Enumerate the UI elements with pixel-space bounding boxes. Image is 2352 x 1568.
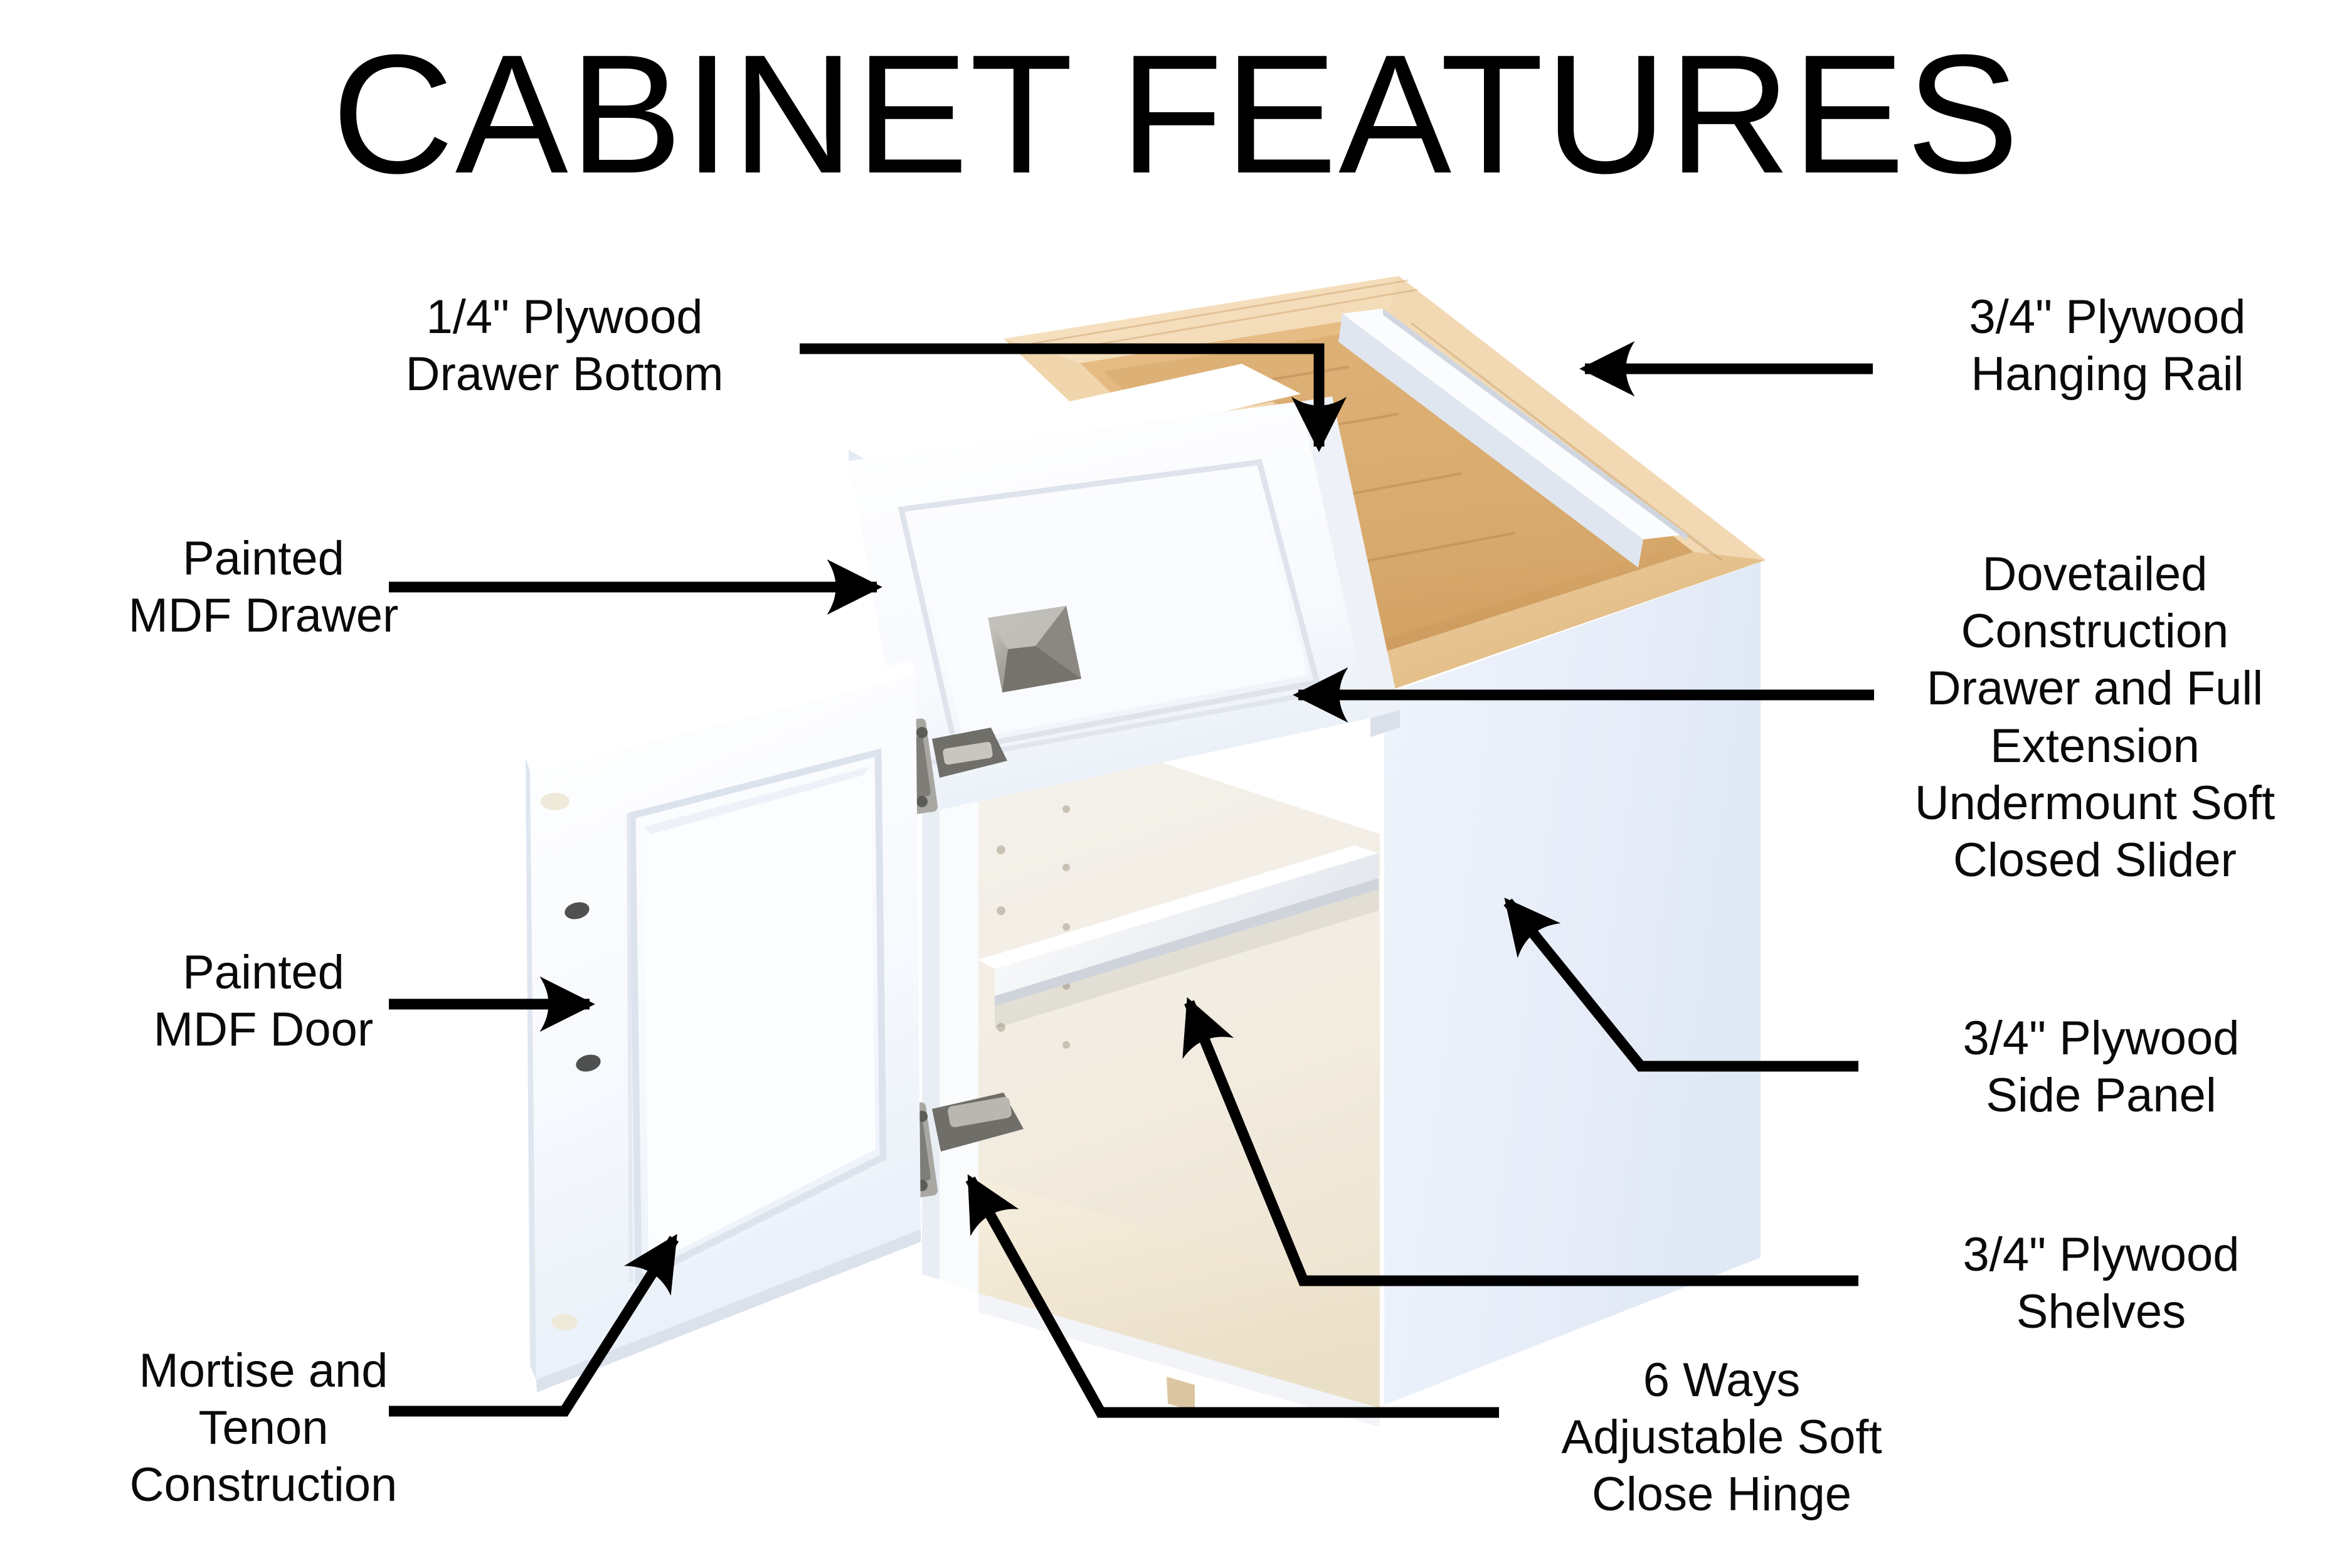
label-hanging-rail: 3/4" Plywood Hanging Rail [1900,289,2314,403]
label-drawer-bottom: 1/4" Plywood Drawer Bottom [339,289,790,403]
cabinet-door [526,660,921,1392]
cabinet-assembly [526,276,1766,1427]
label-mortise-tenon: Mortise and Tenon Construction [44,1342,483,1514]
poster-canvas: CABINET FEATURES [0,0,2352,1568]
label-painted-mdf-door: Painted MDF Door [44,944,483,1058]
drawer-knob [988,606,1081,692]
label-dovetailed-slider: Dovetailed Construction Drawer and Full … [1875,546,2314,889]
label-shelves: 3/4" Plywood Shelves [1882,1226,2321,1340]
label-soft-close-hinge: 6 Ways Adjustable Soft Close Hinge [1502,1352,1941,1523]
label-painted-mdf-drawer: Painted MDF Drawer [44,530,483,644]
label-side-panel: 3/4" Plywood Side Panel [1882,1010,2321,1124]
